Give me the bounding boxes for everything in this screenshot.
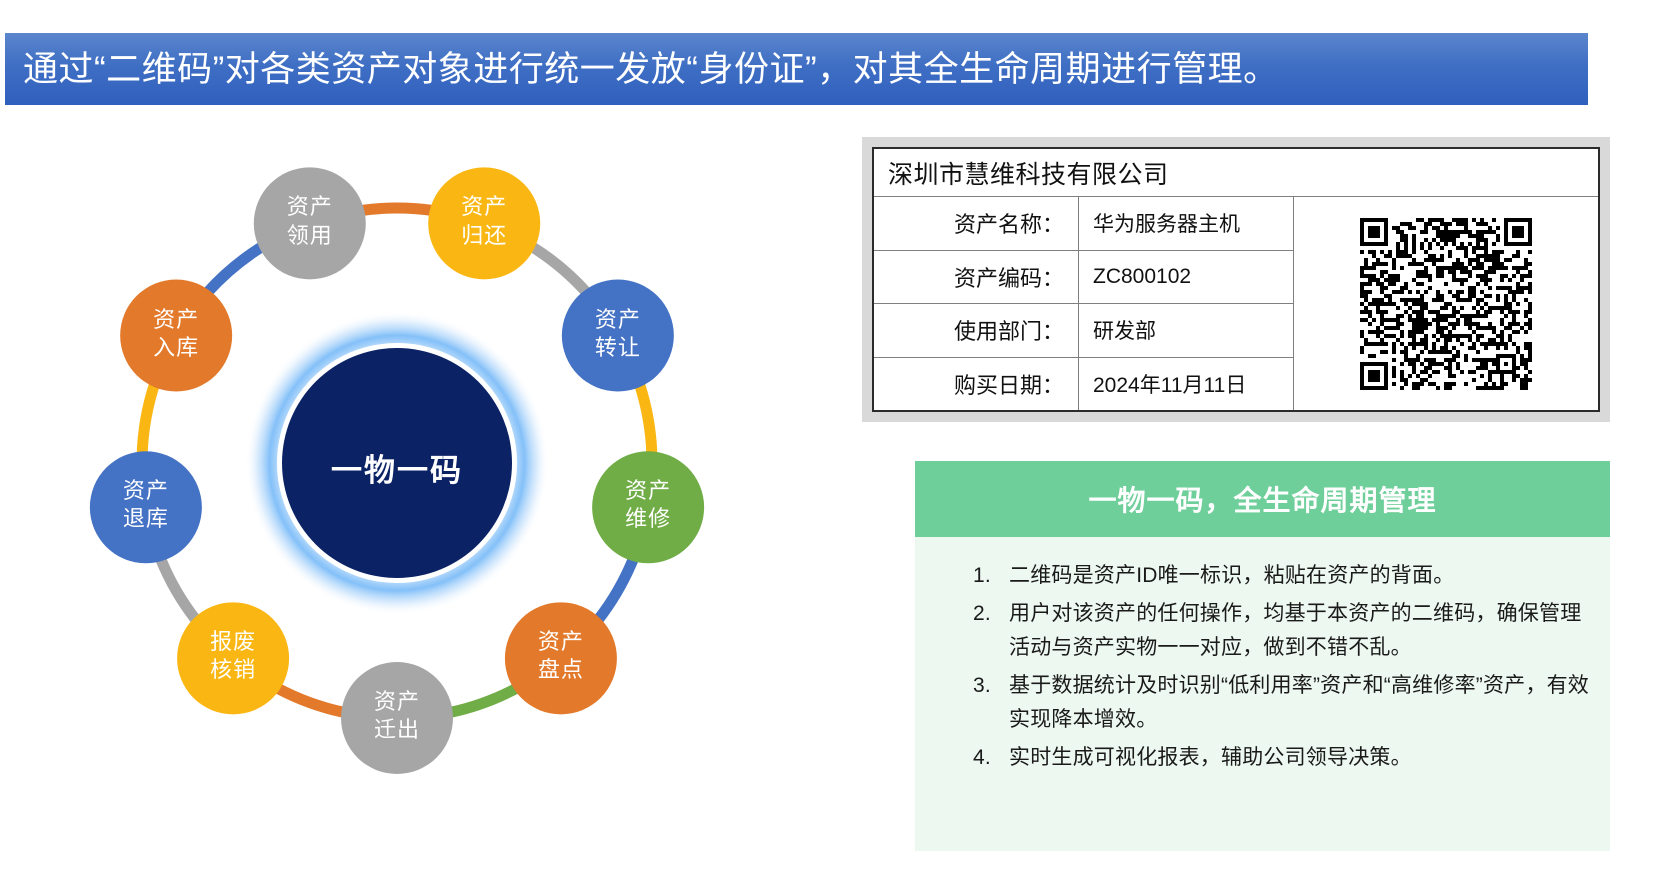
cycle-node[interactable] <box>90 451 202 563</box>
asset-field-value: 华为服务器主机 <box>1079 208 1293 238</box>
asset-field-value: 研发部 <box>1079 315 1293 345</box>
cycle-connector <box>208 247 262 293</box>
center-node[interactable] <box>282 348 512 578</box>
benefits-list-item: 基于数据统计及时识别“低利用率”资产和“高维修率”资产，有效实现降本增效。 <box>973 669 1590 737</box>
cycle-connector <box>142 384 154 454</box>
asset-field-key: 资产名称： <box>874 197 1079 250</box>
slide-canvas: 通过“二维码”对各类资产对象进行统一发放“身份证”，对其全生命周期进行管理。 资… <box>0 0 1666 885</box>
asset-field-row: 资产名称：华为服务器主机 <box>874 197 1293 251</box>
benefits-list-item: 二维码是资产ID唯一标识，粘贴在资产的背面。 <box>973 559 1590 593</box>
center-glow <box>245 311 549 615</box>
cycle-node[interactable] <box>505 602 617 714</box>
asset-field-row: 资产编码：ZC800102 <box>874 251 1293 305</box>
benefits-list-item: 用户对该资产的任何操作，均基于本资产的二维码，确保管理活动与资产实物一一对应，做… <box>973 597 1590 665</box>
asset-field-key: 使用部门： <box>874 304 1079 357</box>
asset-tag-card-inner: 深圳市慧维科技有限公司 资产名称：华为服务器主机资产编码：ZC800102使用部… <box>872 147 1600 412</box>
cycle-node[interactable] <box>562 280 674 392</box>
benefits-list: 二维码是资产ID唯一标识，粘贴在资产的背面。用户对该资产的任何操作，均基于本资产… <box>915 537 1610 775</box>
asset-field-table: 资产名称：华为服务器主机资产编码：ZC800102使用部门：研发部购买日期：20… <box>874 197 1294 410</box>
cycle-connector <box>598 559 633 620</box>
cycle-node[interactable] <box>254 167 366 279</box>
asset-field-value: 2024年11月11日 <box>1079 369 1293 399</box>
asset-field-row: 购买日期：2024年11月11日 <box>874 358 1293 411</box>
cycle-node[interactable] <box>341 662 453 774</box>
cycle-connector <box>640 384 652 454</box>
cycle-node[interactable] <box>120 280 232 392</box>
asset-field-key: 购买日期： <box>874 358 1079 411</box>
header-banner: 通过“二维码”对各类资产对象进行统一发放“身份证”，对其全生命周期进行管理。 <box>5 33 1588 105</box>
cycle-node[interactable] <box>592 451 704 563</box>
asset-tag-body: 资产名称：华为服务器主机资产编码：ZC800102使用部门：研发部购买日期：20… <box>874 197 1598 410</box>
benefits-panel: 一物一码，全生命周期管理 二维码是资产ID唯一标识，粘贴在资产的背面。用户对该资… <box>915 461 1610 851</box>
qr-code-icon <box>1356 214 1536 394</box>
cycle-node[interactable] <box>177 602 289 714</box>
benefits-list-item: 实时生成可视化报表，辅助公司领导决策。 <box>973 741 1590 775</box>
banner-title: 通过“二维码”对各类资产对象进行统一发放“身份证”，对其全生命周期进行管理。 <box>5 52 1279 87</box>
cycle-connector <box>450 688 517 712</box>
lifecycle-cycle-diagram: 资产 入库资产 领用资产 归还资产 转让资产 维修资产 盘点资产 迁出报废 核销… <box>0 110 840 885</box>
cycle-connector <box>362 208 433 210</box>
asset-tag-card: 深圳市慧维科技有限公司 资产名称：华为服务器主机资产编码：ZC800102使用部… <box>862 137 1610 422</box>
cycle-connector <box>277 688 344 712</box>
cycle-connector <box>532 247 586 293</box>
benefits-panel-title: 一物一码，全生命周期管理 <box>1088 479 1436 519</box>
qr-cell <box>1294 197 1598 410</box>
company-name: 深圳市慧维科技有限公司 <box>874 149 1598 197</box>
cycle-svg <box>0 110 840 885</box>
benefits-panel-header: 一物一码，全生命周期管理 <box>915 461 1610 537</box>
cycle-connector <box>161 559 196 620</box>
cycle-node[interactable] <box>428 167 540 279</box>
asset-field-row: 使用部门：研发部 <box>874 304 1293 358</box>
asset-field-key: 资产编码： <box>874 251 1079 304</box>
asset-field-value: ZC800102 <box>1079 265 1293 289</box>
